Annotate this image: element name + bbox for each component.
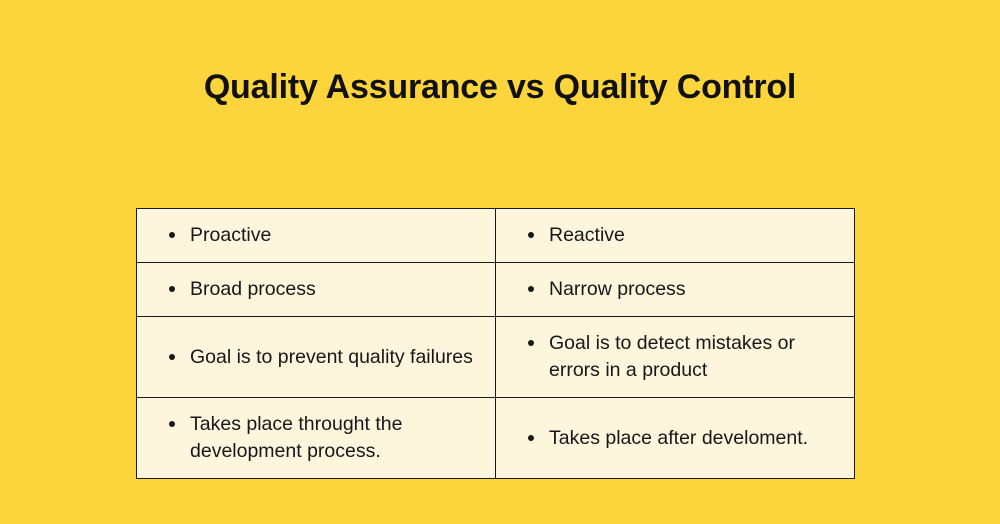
list-item: Broad process [169, 276, 481, 303]
table-row: Broad process Narrow process [137, 263, 855, 317]
cell-content: Proactive [137, 209, 495, 262]
cell-content: Goal is to prevent quality failures [137, 331, 495, 384]
list-item: Goal is to prevent quality failures [169, 344, 481, 371]
bullet-icon [169, 286, 175, 292]
list-item-label: Goal is to detect mistakes or errors in … [549, 330, 840, 384]
list-item-label: Proactive [190, 222, 481, 249]
bullet-icon [528, 286, 534, 292]
table-cell-qc-row-2: Narrow process [496, 263, 855, 317]
table-cell-qc-row-1: Reactive [496, 209, 855, 263]
cell-content: Broad process [137, 263, 495, 316]
table-cell-qa-row-3: Goal is to prevent quality failures [137, 317, 496, 398]
bullet-icon [528, 435, 534, 441]
slide-canvas: Quality Assurance vs Quality Control Pro… [0, 0, 1000, 524]
list-item: Takes place after develoment. [528, 425, 840, 452]
bullet-icon [169, 421, 175, 427]
table-body: Proactive Reactive [137, 209, 855, 479]
list-item-label: Takes place after develoment. [549, 425, 840, 452]
bullet-icon [528, 340, 534, 346]
list-item-label: Narrow process [549, 276, 840, 303]
cell-content: Reactive [496, 209, 854, 262]
table-row: Proactive Reactive [137, 209, 855, 263]
table-cell-qa-row-2: Broad process [137, 263, 496, 317]
cell-content: Takes place throught the development pro… [137, 398, 495, 478]
cell-content: Narrow process [496, 263, 854, 316]
table-cell-qc-row-4: Takes place after develoment. [496, 398, 855, 479]
cell-content: Takes place after develoment. [496, 412, 854, 465]
comparison-table: Proactive Reactive [136, 208, 855, 479]
table-cell-qa-row-4: Takes place throught the development pro… [137, 398, 496, 479]
cell-content: Goal is to detect mistakes or errors in … [496, 317, 854, 397]
bullet-icon [528, 232, 534, 238]
list-item-label: Broad process [190, 276, 481, 303]
bullet-icon [169, 232, 175, 238]
list-item: Narrow process [528, 276, 840, 303]
page-title: Quality Assurance vs Quality Control [0, 64, 1000, 110]
list-item-label: Reactive [549, 222, 840, 249]
bullet-icon [169, 354, 175, 360]
table-cell-qc-row-3: Goal is to detect mistakes or errors in … [496, 317, 855, 398]
list-item: Proactive [169, 222, 481, 249]
list-item: Goal is to detect mistakes or errors in … [528, 330, 840, 384]
list-item: Reactive [528, 222, 840, 249]
list-item: Takes place throught the development pro… [169, 411, 481, 465]
table-row: Takes place throught the development pro… [137, 398, 855, 479]
table-row: Goal is to prevent quality failures Goal… [137, 317, 855, 398]
list-item-label: Takes place throught the development pro… [190, 411, 481, 465]
table-cell-qa-row-1: Proactive [137, 209, 496, 263]
list-item-label: Goal is to prevent quality failures [190, 344, 481, 371]
